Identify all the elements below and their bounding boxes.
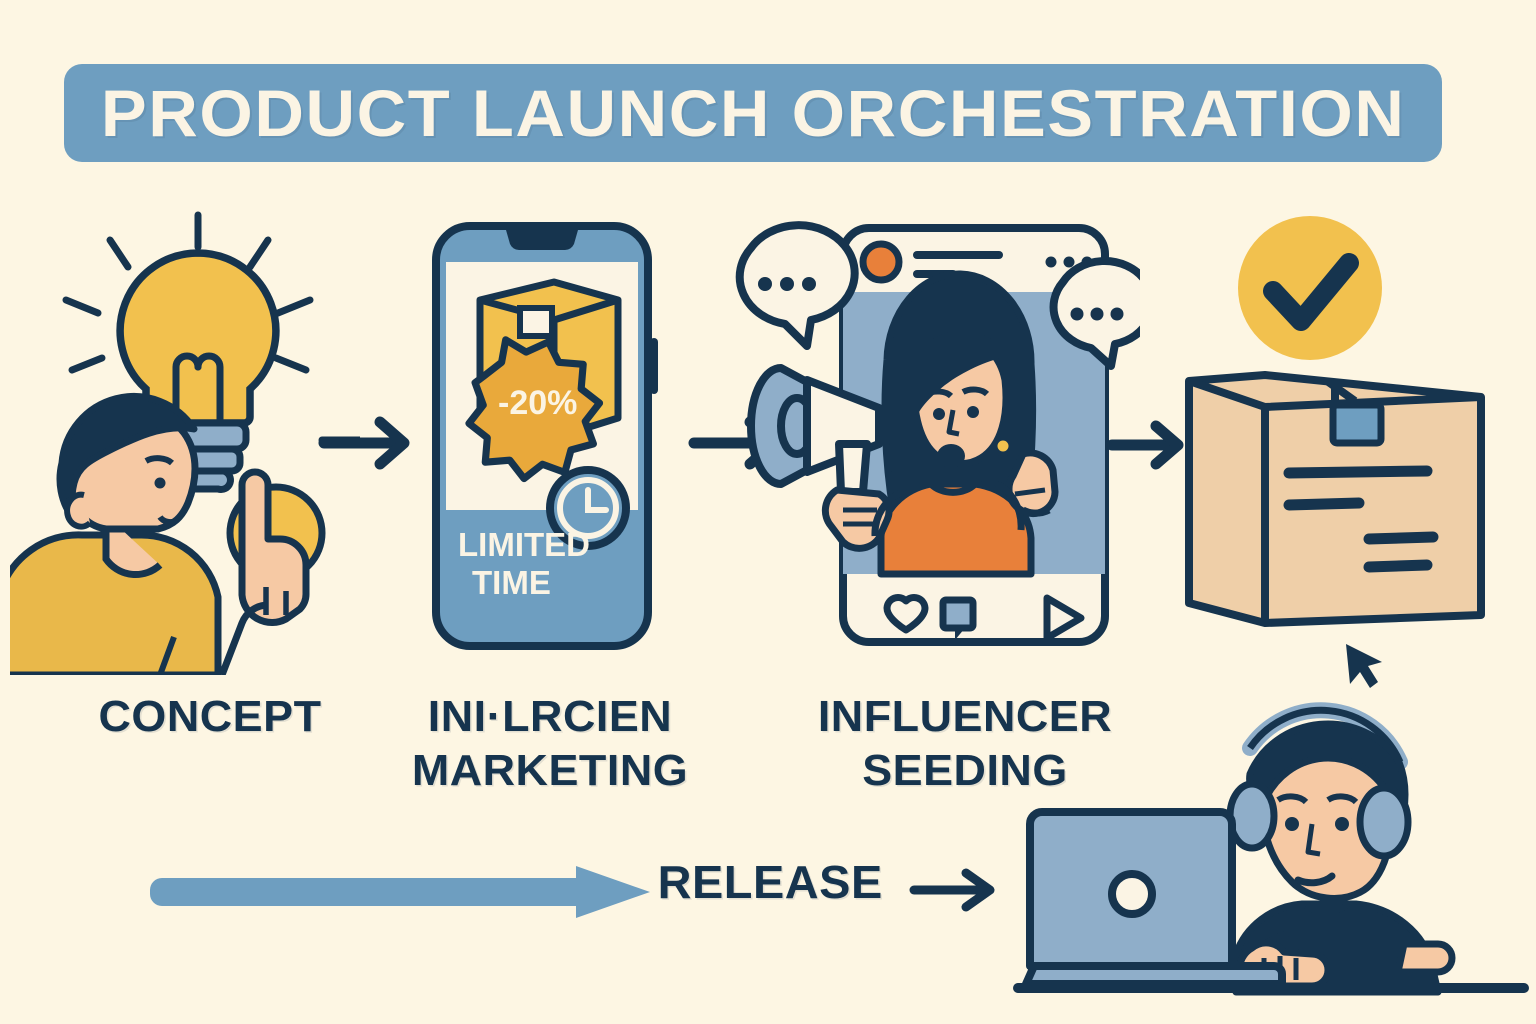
social-post-illustration (735, 218, 1140, 654)
laptop-logo (1112, 874, 1152, 914)
limited-text-line2: TIME (472, 564, 551, 601)
discount-text: -20% (498, 384, 577, 422)
headphones-icon (1230, 784, 1274, 848)
post-name-bar (913, 251, 1003, 259)
check-circle-icon (1238, 216, 1382, 360)
speech-bubble-left-icon (740, 225, 855, 346)
step-label-concept: CONCEPT (37, 690, 384, 744)
shipping-box-icon (1189, 375, 1481, 623)
smartphone-promo-illustration: -20% LIMITED TIME (428, 218, 678, 654)
delivery-illustration (1165, 205, 1505, 655)
title-banner: PRODUCT LAUNCH ORCHESTRATION (64, 64, 1442, 162)
page-title: PRODUCT LAUNCH ORCHESTRATION (101, 75, 1406, 151)
phone-side-button (650, 338, 658, 394)
flow-arrow-1-icon (316, 412, 426, 474)
step-label-seeding: INFLUENCER SEEDING (787, 690, 1144, 797)
step-label-marketing-line2: MARKETING (377, 744, 724, 798)
person-desk-avatar (1230, 710, 1452, 992)
limited-text-line1: LIMITED (458, 526, 590, 563)
person-concept-avatar (10, 396, 306, 675)
phone-notch (506, 230, 578, 250)
step-label-seeding-line1: INFLUENCER (787, 690, 1144, 744)
step-label-marketing-line1: INI·LRCIEN (377, 690, 724, 744)
step-label-seeding-line2: SEEDING (787, 744, 1144, 798)
step-label-marketing: INI·LRCIEN MARKETING (377, 690, 724, 797)
concept-illustration (10, 195, 360, 675)
avatar (863, 244, 899, 280)
cursor-arrow-icon (1346, 644, 1382, 688)
release-arrow-icon (908, 862, 1008, 918)
release-label: RELEASE (658, 855, 903, 909)
infographic-canvas: PRODUCT LAUNCH ORCHESTRATION (0, 0, 1536, 1024)
box-tape (1333, 405, 1381, 443)
progress-arrow (148, 862, 650, 918)
